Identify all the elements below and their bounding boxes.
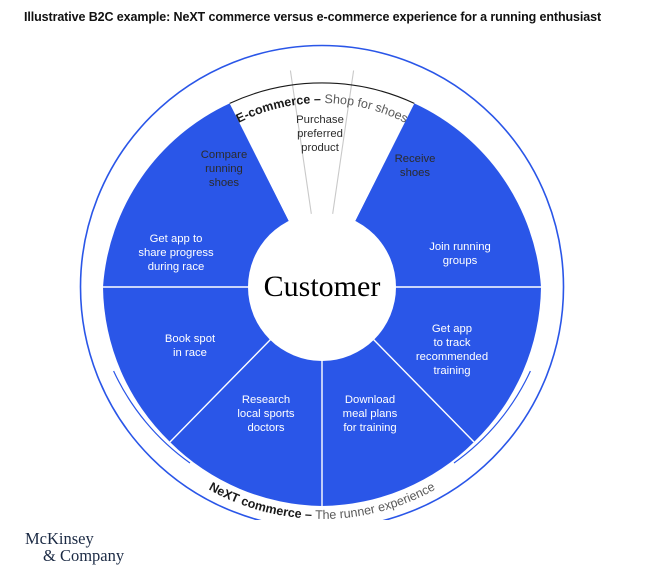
wheel-svg: Customer Compare running shoes Purchase … [0,0,645,520]
seg-line: Receive [395,153,436,165]
label-download-meal-plans-for-training: Download meal plans for training [343,394,398,434]
mckinsey-logo: McKinsey & Company [25,530,124,565]
seg-line: Get app [432,323,472,335]
logo-line-1: McKinsey [25,529,94,548]
label-purchase-preferred-product: Purchase preferred product [296,114,344,154]
seg-line: local sports [237,408,294,420]
center-label: Customer [264,270,381,303]
logo-line-2: & Company [25,547,124,564]
seg-line: preferred [297,128,343,140]
seg-line: in race [173,347,207,359]
seg-line: training [433,365,470,377]
seg-line: shoes [400,167,430,179]
seg-line: share progress [138,247,214,259]
seg-line: Download [345,394,395,406]
top-arc-caption-dash: – [310,92,324,106]
seg-line: meal plans [343,408,398,420]
seg-line: to track [433,337,470,349]
seg-line: Compare [201,149,247,161]
seg-line: shoes [209,177,239,189]
bottom-arc-caption-dash: – [301,507,316,520]
seg-line: Book spot [165,333,216,345]
seg-line: groups [443,255,478,267]
wheel-diagram: Customer Compare running shoes Purchase … [0,0,645,520]
seg-line: product [301,142,340,154]
seg-line: recommended [416,351,488,363]
seg-line: Get app to [150,233,203,245]
seg-line: for training [343,422,396,434]
seg-line: running [205,163,243,175]
seg-line: doctors [247,422,284,434]
seg-line: Purchase [296,114,344,126]
seg-line: Join running [429,241,491,253]
seg-line: Research [242,394,290,406]
seg-line: during race [148,261,205,273]
